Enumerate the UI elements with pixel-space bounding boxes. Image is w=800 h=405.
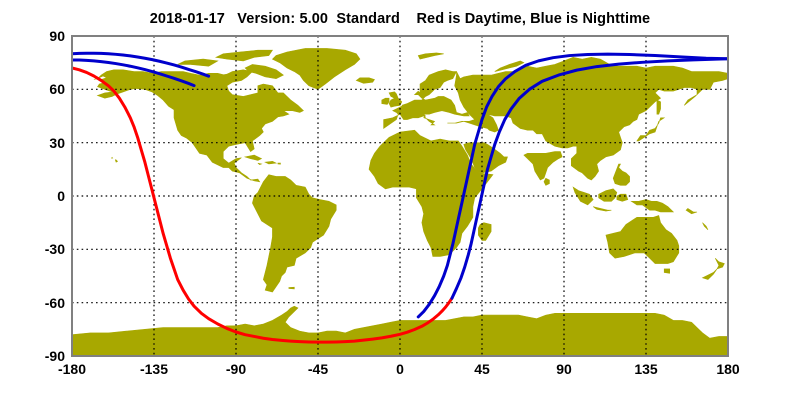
x-tick-label: 135 <box>634 361 657 377</box>
y-tick-label: 30 <box>20 135 65 151</box>
plot-area-svg <box>0 0 800 400</box>
x-tick-label: -45 <box>308 361 328 377</box>
landmass-polygon <box>617 194 628 201</box>
y-tick-label: 90 <box>20 28 65 44</box>
world-terminator-figure: 2018-01-17 Version: 5.00 Standard Red is… <box>0 0 800 400</box>
landmass-polygon <box>664 269 669 273</box>
y-tick-label: -30 <box>20 241 65 257</box>
x-tick-label: 90 <box>556 361 572 377</box>
landmass-polygon <box>382 98 389 104</box>
x-tick-label: -180 <box>58 361 86 377</box>
page-title: 2018-01-17 Version: 5.00 Standard Red is… <box>0 11 800 27</box>
landmass-polygon <box>278 163 281 164</box>
y-tick-label: -60 <box>20 295 65 311</box>
y-tick-label: 60 <box>20 81 65 97</box>
landmass-polygon <box>289 287 294 289</box>
y-tick-label: 0 <box>20 188 65 204</box>
x-tick-label: 0 <box>396 361 404 377</box>
landmass-polygon <box>112 157 113 158</box>
x-tick-label: -90 <box>226 361 246 377</box>
x-tick-label: 180 <box>716 361 739 377</box>
x-tick-label: -135 <box>140 361 168 377</box>
x-tick-label: 45 <box>474 361 490 377</box>
